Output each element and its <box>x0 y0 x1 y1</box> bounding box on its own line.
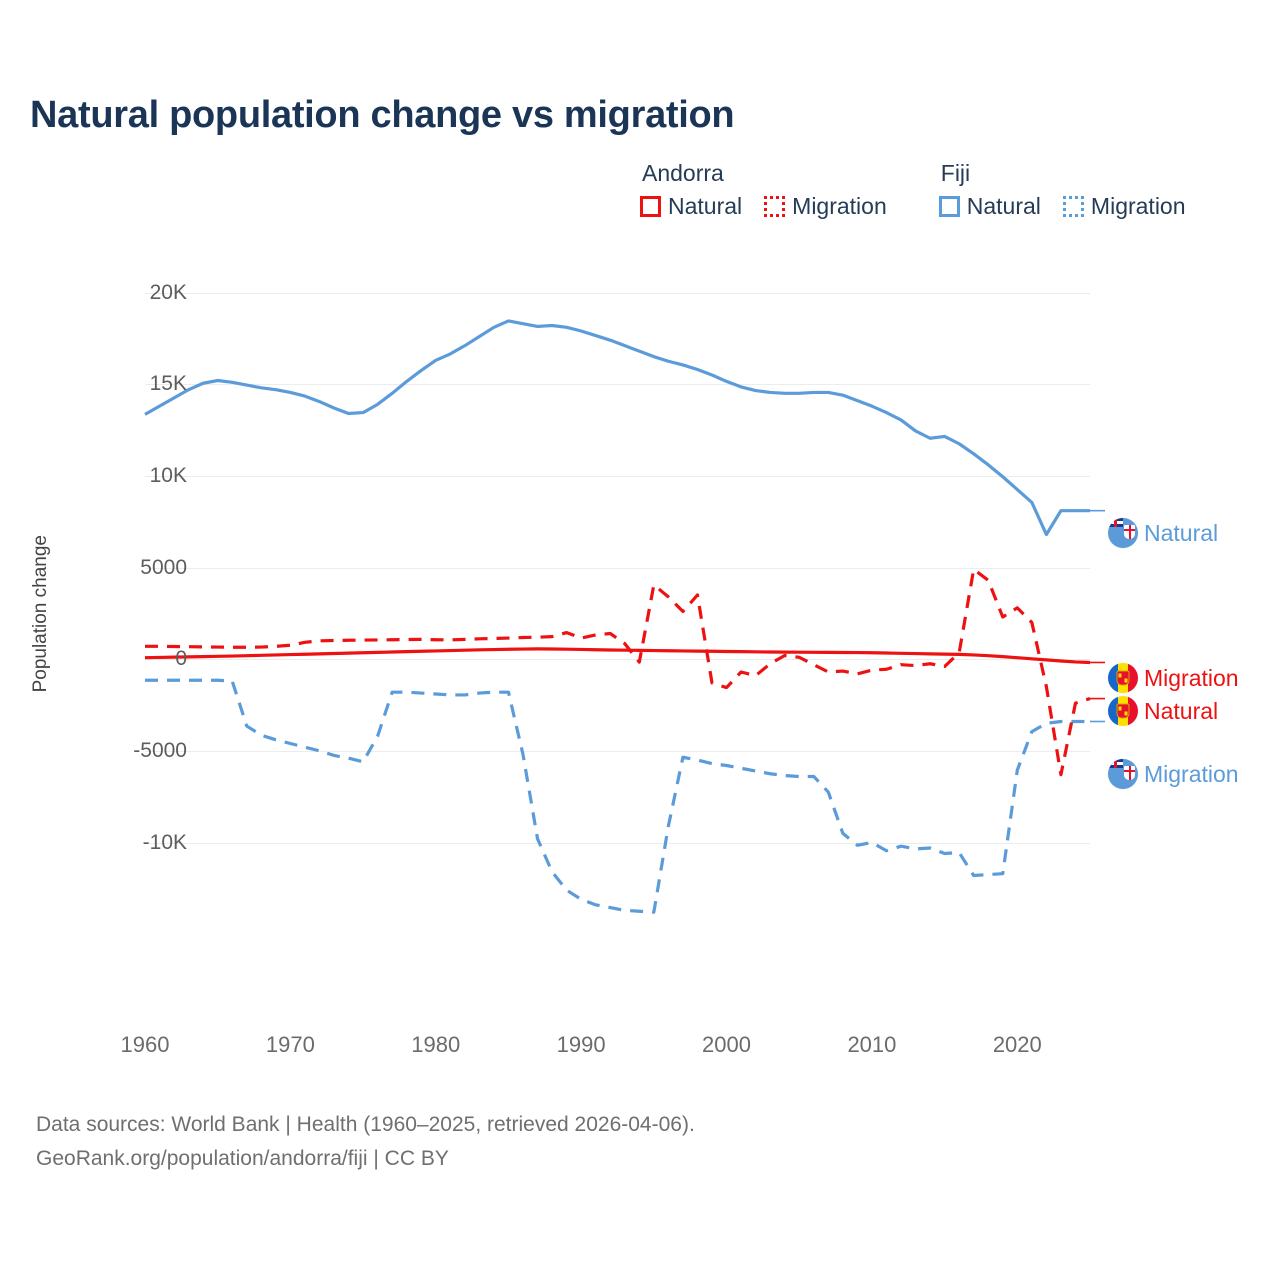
andorra-flag-icon <box>1108 663 1138 693</box>
page-title: Natural population change vs migration <box>30 94 734 137</box>
y-axis-tick-label: 20K <box>150 281 187 305</box>
series-line-fiji-migration <box>145 680 1090 912</box>
legend-swatch-solid-red-icon <box>640 196 661 217</box>
x-axis-tick-label: 1980 <box>411 1032 460 1058</box>
fiji-flag-icon <box>1108 759 1138 789</box>
legend-item-fiji-natural[interactable]: Natural <box>939 193 1041 220</box>
legend-label-andorra-migration: Migration <box>792 193 887 220</box>
footer-line-1: Data sources: World Bank | Health (1960–… <box>36 1108 695 1142</box>
legend-swatch-dotted-red-icon <box>764 196 785 217</box>
x-axis-tick-label: 2010 <box>847 1032 896 1058</box>
y-axis-label: Population change <box>30 535 52 692</box>
y-axis-tick-label: 10K <box>150 464 187 488</box>
y-axis-tick-label: -10K <box>143 831 187 855</box>
end-label-fiji-natural[interactable]: Natural <box>1108 518 1218 548</box>
end-label-text: Migration <box>1144 665 1239 692</box>
legend-swatch-dotted-blue-icon <box>1063 196 1084 217</box>
x-axis-tick-label: 1990 <box>557 1032 606 1058</box>
y-axis-tick-label: -5000 <box>133 739 187 763</box>
x-axis-tick-label: 2020 <box>993 1032 1042 1058</box>
chart-legend: Andorra Natural Migration Fiji Natural <box>640 160 1186 220</box>
legend-item-andorra-migration[interactable]: Migration <box>764 193 887 220</box>
y-axis-tick-label: 5000 <box>140 556 187 580</box>
end-label-andorra-migration[interactable]: Migration <box>1108 663 1239 693</box>
footer: Data sources: World Bank | Health (1960–… <box>36 1108 695 1176</box>
footer-line-2: GeoRank.org/population/andorra/fiji | CC… <box>36 1142 695 1176</box>
x-axis-tick-label: 1960 <box>121 1032 170 1058</box>
legend-group-fiji: Fiji Natural Migration <box>939 160 1186 220</box>
x-axis-tick-label: 2000 <box>702 1032 751 1058</box>
legend-label-andorra-natural: Natural <box>668 193 742 220</box>
legend-group-title-fiji: Fiji <box>941 160 1186 187</box>
end-label-fiji-migration[interactable]: Migration <box>1108 759 1239 789</box>
legend-item-fiji-migration[interactable]: Migration <box>1063 193 1186 220</box>
series-line-andorra-natural <box>145 649 1090 663</box>
andorra-flag-icon <box>1108 696 1138 726</box>
x-axis-tick-label: 1970 <box>266 1032 315 1058</box>
legend-group-title-andorra: Andorra <box>642 160 887 187</box>
end-label-text: Migration <box>1144 761 1239 788</box>
series-line-fiji-natural <box>145 321 1090 535</box>
end-label-text: Natural <box>1144 698 1218 725</box>
plot-area <box>145 265 1090 925</box>
end-label-text: Natural <box>1144 520 1218 547</box>
fiji-flag-icon <box>1108 518 1138 548</box>
legend-label-fiji-migration: Migration <box>1091 193 1186 220</box>
series-lines <box>145 265 1090 925</box>
y-axis-tick-label: 0 <box>175 647 187 671</box>
legend-label-fiji-natural: Natural <box>967 193 1041 220</box>
end-label-andorra-natural[interactable]: Natural <box>1108 696 1218 726</box>
legend-item-andorra-natural[interactable]: Natural <box>640 193 742 220</box>
legend-swatch-solid-blue-icon <box>939 196 960 217</box>
y-axis-tick-label: 15K <box>150 372 187 396</box>
legend-group-andorra: Andorra Natural Migration <box>640 160 887 220</box>
